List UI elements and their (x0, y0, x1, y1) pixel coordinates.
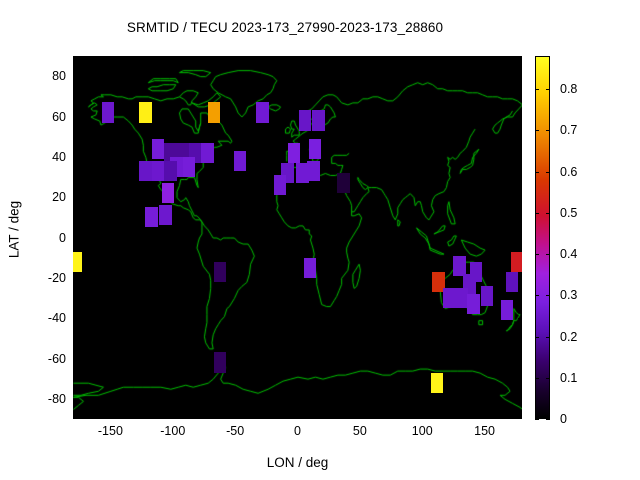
heatmap-cell (481, 286, 493, 306)
heatmap-cell (201, 143, 213, 163)
heatmap-cell (431, 373, 443, 393)
heatmap-cell-layer (73, 56, 522, 419)
x-tick (298, 415, 299, 419)
y-tick-label: 80 (16, 69, 66, 83)
heatmap-cell (164, 161, 176, 181)
y-tick-label: 40 (16, 150, 66, 164)
x-tick-label: 0 (294, 424, 301, 438)
colorbar-tick (546, 89, 550, 90)
heatmap-cell (274, 175, 286, 195)
colorbar-tick (546, 295, 550, 296)
colorbar-tick-label: 0.4 (560, 247, 577, 261)
y-tick (518, 117, 522, 118)
y-tick (73, 399, 77, 400)
heatmap-cell (152, 161, 164, 181)
colorbar-tick (535, 89, 539, 90)
x-tick-label: -150 (98, 424, 123, 438)
colorbar-tick-label: 0 (560, 412, 567, 426)
y-tick (518, 197, 522, 198)
heatmap-cell (145, 207, 157, 227)
y-tick (518, 76, 522, 77)
colorbar-tick-label: 0.5 (560, 206, 577, 220)
x-tick-label: 50 (353, 424, 367, 438)
colorbar-tick (546, 419, 550, 420)
heatmap-cell (102, 102, 114, 122)
heatmap-cell (506, 272, 518, 292)
y-tick (73, 318, 77, 319)
colorbar-tick (546, 254, 550, 255)
heatmap-cell (73, 252, 82, 272)
colorbar-tick-label: 0.7 (560, 123, 577, 137)
y-axis-label: LAT / deg (7, 190, 22, 270)
figure-canvas: SRMTID / TECU 2023-173_27990-2023-173_28… (0, 0, 640, 480)
heatmap-cell (214, 352, 226, 372)
y-tick (73, 197, 77, 198)
heatmap-cell (307, 161, 319, 181)
heatmap-cell (214, 262, 226, 282)
heatmap-cell (337, 173, 349, 193)
y-tick (73, 76, 77, 77)
heatmap-cell (139, 102, 151, 122)
heatmap-cell (467, 294, 479, 314)
y-tick-label: -20 (16, 271, 66, 285)
colorbar-tick (535, 254, 539, 255)
x-tick (235, 56, 236, 60)
y-tick-label: 60 (16, 110, 66, 124)
heatmap-cell (299, 110, 311, 130)
y-tick (518, 359, 522, 360)
heatmap-cell (312, 110, 324, 130)
x-tick (360, 56, 361, 60)
x-tick-label: -100 (160, 424, 185, 438)
heatmap-cell (443, 288, 455, 308)
colorbar-tick (535, 213, 539, 214)
x-tick (485, 415, 486, 419)
heatmap-cell (511, 252, 522, 272)
x-tick (173, 415, 174, 419)
heatmap-cell (501, 300, 513, 320)
x-tick (110, 56, 111, 60)
y-tick (73, 157, 77, 158)
x-tick-label: 100 (412, 424, 433, 438)
x-tick (173, 56, 174, 60)
y-tick-label: 0 (16, 231, 66, 245)
colorbar-tick-label: 0.6 (560, 165, 577, 179)
y-tick (73, 278, 77, 279)
x-axis-label: LON / deg (73, 455, 522, 470)
x-tick (235, 415, 236, 419)
y-tick-label: -80 (16, 392, 66, 406)
colorbar-tick (535, 419, 539, 420)
x-tick (422, 415, 423, 419)
colorbar-tick-label: 0.3 (560, 288, 577, 302)
y-tick (73, 117, 77, 118)
heatmap-cell (159, 205, 171, 225)
colorbar-tick-label: 0.8 (560, 82, 577, 96)
colorbar-tick (535, 337, 539, 338)
x-tick (110, 415, 111, 419)
colorbar-tick (546, 378, 550, 379)
y-tick (73, 238, 77, 239)
colorbar-tick (546, 213, 550, 214)
y-tick-label: 20 (16, 190, 66, 204)
x-tick-label: 150 (474, 424, 495, 438)
y-tick (518, 278, 522, 279)
colorbar-tick (546, 172, 550, 173)
heatmap-cell (256, 102, 268, 122)
heatmap-cell (304, 258, 316, 278)
colorbar-tick (535, 295, 539, 296)
map-plot-area[interactable] (73, 56, 522, 419)
heatmap-cell (234, 151, 246, 171)
y-tick (518, 399, 522, 400)
x-tick-label: -50 (226, 424, 244, 438)
colorbar-tick (546, 130, 550, 131)
heatmap-cell (453, 256, 465, 276)
colorbar-tick (535, 130, 539, 131)
colorbar (535, 56, 550, 419)
x-tick (360, 415, 361, 419)
colorbar-tick-label: 0.2 (560, 330, 577, 344)
colorbar-gradient (535, 56, 550, 419)
colorbar-tick (535, 172, 539, 173)
colorbar-tick (546, 337, 550, 338)
y-tick (518, 238, 522, 239)
x-tick (298, 56, 299, 60)
chart-title: SRMTID / TECU 2023-173_27990-2023-173_28… (0, 20, 570, 35)
y-tick (73, 359, 77, 360)
heatmap-cell (152, 139, 164, 159)
y-tick-label: -40 (16, 311, 66, 325)
heatmap-cell (309, 139, 321, 159)
x-tick (485, 56, 486, 60)
heatmap-cell (162, 183, 174, 203)
y-tick (518, 318, 522, 319)
heatmap-cell (288, 143, 300, 163)
y-tick-label: -60 (16, 352, 66, 366)
y-tick (518, 157, 522, 158)
x-tick (422, 56, 423, 60)
colorbar-tick-label: 0.1 (560, 371, 577, 385)
heatmap-cell (183, 157, 195, 177)
colorbar-tick (535, 378, 539, 379)
heatmap-cell (208, 102, 220, 122)
heatmap-cell (139, 161, 151, 181)
